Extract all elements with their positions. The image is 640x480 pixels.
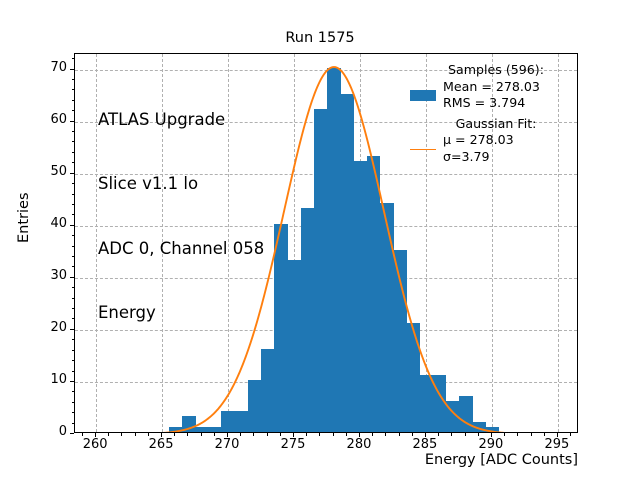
- y-tick-minor: [72, 194, 75, 195]
- x-tick-minor: [531, 433, 532, 436]
- y-axis-label: Entries: [16, 192, 32, 243]
- legend-swatch-histogram: [410, 90, 436, 101]
- y-tick-minor: [72, 131, 75, 132]
- y-tick-major: [70, 69, 74, 70]
- x-tick-minor: [148, 433, 149, 436]
- x-axis-label: Energy [ADC Counts]: [425, 452, 578, 468]
- x-tick-minor: [253, 433, 254, 436]
- y-tick-minor: [72, 318, 75, 319]
- x-tick-minor: [412, 433, 413, 436]
- y-tick-minor: [72, 152, 75, 153]
- x-tick-minor: [372, 433, 373, 436]
- y-tick-minor: [72, 246, 75, 247]
- legend-swatch-fit-line: [410, 149, 436, 150]
- y-tick-label: 30: [27, 268, 67, 283]
- y-tick-minor: [72, 204, 75, 205]
- x-tick-minor: [121, 433, 122, 436]
- x-tick-minor: [544, 433, 545, 436]
- x-tick-minor: [280, 433, 281, 436]
- y-tick-minor: [72, 89, 75, 90]
- y-tick-label: 20: [27, 320, 67, 335]
- y-tick-minor: [72, 371, 75, 372]
- y-tick-label: 70: [27, 60, 67, 75]
- y-tick-minor: [72, 308, 75, 309]
- y-tick-minor: [72, 58, 75, 59]
- y-tick-minor: [72, 339, 75, 340]
- y-tick-minor: [72, 298, 75, 299]
- x-tick-minor: [214, 433, 215, 436]
- annotation-line-1: ATLAS Upgrade: [98, 109, 264, 130]
- y-tick-major: [70, 121, 74, 122]
- legend-fit-header: Gaussian Fit:: [410, 116, 582, 133]
- annotation-line-3: ADC 0, Channel 058: [98, 238, 264, 259]
- y-tick-major: [70, 173, 74, 174]
- x-tick-minor: [385, 433, 386, 436]
- legend-mean-label: Mean = 278.03: [443, 79, 582, 96]
- legend-rms-label: RMS = 3.794: [443, 95, 582, 112]
- x-tick-label: 260: [65, 437, 125, 452]
- x-tick-minor: [108, 433, 109, 436]
- x-tick-minor: [82, 433, 83, 436]
- legend-entry-fit: μ = 278.03 σ=3.79: [410, 132, 582, 165]
- y-tick-minor: [72, 141, 75, 142]
- x-tick-label: 275: [263, 437, 323, 452]
- legend-samples-header: Samples (596):: [410, 62, 582, 79]
- y-tick-minor: [72, 423, 75, 424]
- x-tick-minor: [240, 433, 241, 436]
- y-tick-minor: [72, 287, 75, 288]
- x-tick-minor: [478, 433, 479, 436]
- x-tick-minor: [135, 433, 136, 436]
- y-tick-minor: [72, 391, 75, 392]
- figure-canvas: Run 1575 2602652702752802852902950102030…: [0, 0, 640, 480]
- annotation-line-4: Energy: [98, 302, 264, 323]
- x-tick-minor: [174, 433, 175, 436]
- y-tick-minor: [72, 100, 75, 101]
- y-tick-major: [70, 381, 74, 382]
- legend-sigma-label: σ=3.79: [443, 149, 582, 166]
- x-tick-minor: [333, 433, 334, 436]
- y-tick-minor: [72, 256, 75, 257]
- y-tick-minor: [72, 350, 75, 351]
- legend: Samples (596): Mean = 278.03 RMS = 3.794…: [410, 62, 582, 166]
- x-tick-minor: [399, 433, 400, 436]
- x-tick-minor: [201, 433, 202, 436]
- y-tick-label: 40: [27, 216, 67, 231]
- y-tick-minor: [72, 162, 75, 163]
- x-tick-minor: [319, 433, 320, 436]
- x-tick-minor: [267, 433, 268, 436]
- x-tick-label: 270: [197, 437, 257, 452]
- x-tick-label: 280: [329, 437, 389, 452]
- y-tick-major: [70, 329, 74, 330]
- legend-entry-samples: Mean = 278.03 RMS = 3.794: [410, 79, 582, 112]
- x-tick-minor: [504, 433, 505, 436]
- y-tick-minor: [72, 266, 75, 267]
- x-tick-minor: [517, 433, 518, 436]
- x-tick-minor: [438, 433, 439, 436]
- x-tick-label: 285: [395, 437, 455, 452]
- x-tick-minor: [346, 433, 347, 436]
- y-tick-minor: [72, 360, 75, 361]
- y-tick-label: 10: [27, 372, 67, 387]
- y-tick-minor: [72, 412, 75, 413]
- y-tick-minor: [72, 402, 75, 403]
- y-tick-minor: [72, 79, 75, 80]
- y-tick-major: [70, 277, 74, 278]
- y-tick-minor: [72, 110, 75, 111]
- y-tick-label: 60: [27, 112, 67, 127]
- annotation-text-block: ATLAS Upgrade Slice v1.1 lo ADC 0, Chann…: [98, 66, 264, 366]
- chart-title: Run 1575: [0, 30, 640, 46]
- x-tick-label: 265: [131, 437, 191, 452]
- x-tick-label: 290: [461, 437, 521, 452]
- y-tick-minor: [72, 183, 75, 184]
- y-tick-major: [70, 433, 74, 434]
- x-tick-minor: [306, 433, 307, 436]
- legend-mu-label: μ = 278.03: [443, 132, 582, 149]
- y-tick-minor: [72, 235, 75, 236]
- x-tick-minor: [465, 433, 466, 436]
- y-tick-major: [70, 225, 74, 226]
- x-tick-label: 295: [527, 437, 587, 452]
- x-tick-minor: [451, 433, 452, 436]
- y-tick-minor: [72, 214, 75, 215]
- y-tick-label: 50: [27, 164, 67, 179]
- x-tick-minor: [187, 433, 188, 436]
- x-tick-minor: [570, 433, 571, 436]
- y-tick-label: 0: [27, 424, 67, 439]
- annotation-line-2: Slice v1.1 lo: [98, 173, 264, 194]
